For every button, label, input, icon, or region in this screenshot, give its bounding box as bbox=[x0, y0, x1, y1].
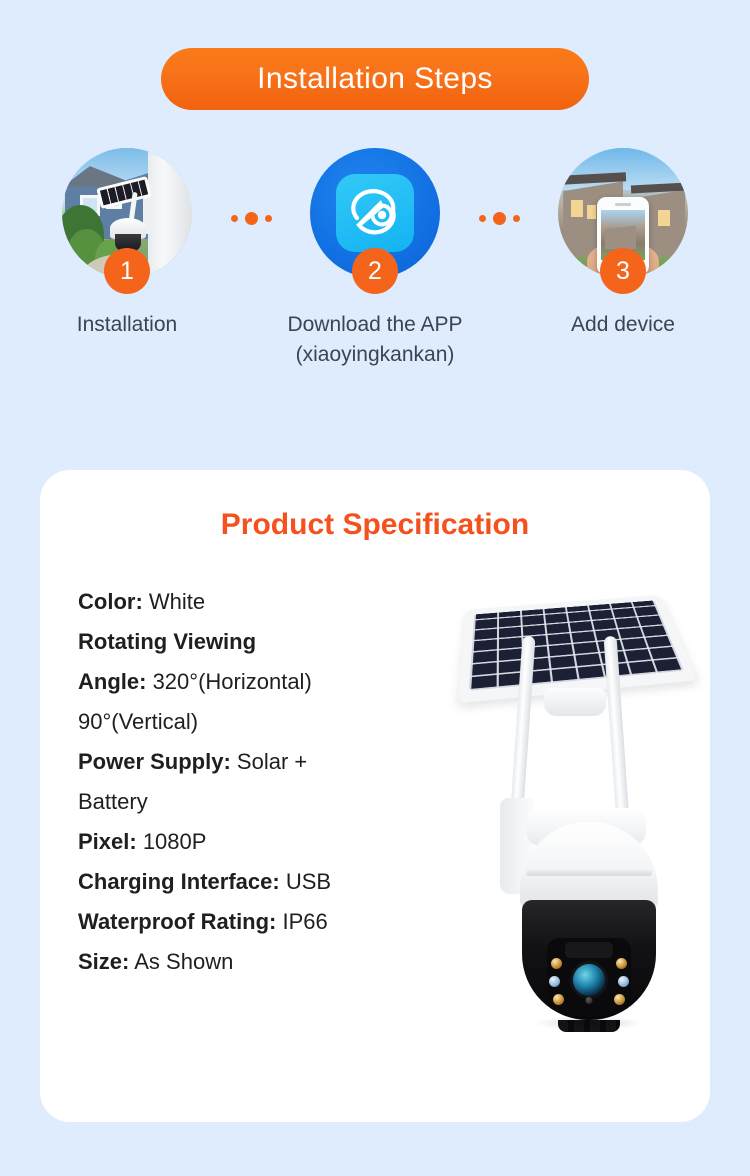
light-sensor-icon bbox=[586, 997, 593, 1004]
camera-lens-icon bbox=[573, 964, 605, 996]
led-warm-icon bbox=[553, 994, 564, 1005]
spec-value: Solar + bbox=[231, 749, 307, 774]
dot-small-icon bbox=[513, 215, 520, 222]
spec-label: Charging Interface: bbox=[78, 869, 280, 894]
lit-window bbox=[571, 200, 583, 217]
app-icon-tile bbox=[336, 174, 414, 252]
step-3-image-holder: 3 bbox=[558, 148, 688, 278]
led-cool-icon bbox=[618, 976, 629, 987]
step-1-installation[interactable]: 1 Installation bbox=[29, 148, 225, 340]
spec-label: Waterproof Rating: bbox=[78, 909, 276, 934]
dot-large-icon bbox=[493, 212, 506, 225]
product-photo bbox=[448, 570, 700, 1070]
camera-dome bbox=[522, 900, 656, 1020]
spec-line: Battery bbox=[78, 782, 428, 822]
spec-value: 90°(Vertical) bbox=[78, 709, 198, 734]
spec-value: White bbox=[143, 589, 205, 614]
spec-value: 1080P bbox=[137, 829, 207, 854]
wall-pillar bbox=[148, 148, 192, 278]
step-2-image-holder: 2 bbox=[310, 148, 440, 278]
lit-window bbox=[587, 205, 596, 219]
dot-small-icon bbox=[479, 215, 486, 222]
led-warm-icon bbox=[616, 958, 627, 969]
spec-label: Size: bbox=[78, 949, 129, 974]
spec-label: Power Supply: bbox=[78, 749, 231, 774]
spec-value: Battery bbox=[78, 789, 148, 814]
spec-label: Angle: bbox=[78, 669, 146, 694]
spec-value: 320°(Horizontal) bbox=[146, 669, 311, 694]
spec-line: Pixel: 1080P bbox=[78, 822, 428, 862]
spec-label: Color: bbox=[78, 589, 143, 614]
spec-line: Charging Interface: USB bbox=[78, 862, 428, 902]
step-2-number-badge: 2 bbox=[352, 248, 398, 294]
installation-steps-title: Installation Steps bbox=[161, 48, 589, 110]
dot-small-icon bbox=[231, 215, 238, 222]
step-1-number-badge: 1 bbox=[104, 248, 150, 294]
step-2-label-line1: Download the APP bbox=[287, 313, 462, 336]
header-banner: Installation Steps bbox=[0, 48, 750, 110]
product-specification-title: Product Specification bbox=[40, 508, 710, 542]
dot-small-icon bbox=[265, 215, 272, 222]
spec-value: As Shown bbox=[129, 949, 233, 974]
installation-steps-row: 1 Installation bbox=[0, 148, 750, 370]
panel-neck-joint bbox=[544, 688, 606, 716]
spec-label: Pixel: bbox=[78, 829, 137, 854]
dot-large-icon bbox=[245, 212, 258, 225]
spec-line: 90°(Vertical) bbox=[78, 702, 428, 742]
spec-line: Angle: 320°(Horizontal) bbox=[78, 662, 428, 702]
led-warm-icon bbox=[614, 994, 625, 1005]
spec-line: Size: As Shown bbox=[78, 942, 428, 982]
eye-logo-icon bbox=[347, 185, 403, 241]
housing-seam bbox=[526, 870, 652, 876]
spec-value: USB bbox=[280, 869, 331, 894]
led-cool-icon bbox=[549, 976, 560, 987]
product-shadow bbox=[534, 1016, 644, 1030]
step-3-label: Add device bbox=[571, 310, 675, 340]
led-warm-icon bbox=[551, 958, 562, 969]
spec-line: Color: White bbox=[78, 582, 428, 622]
specification-list: Color: White Rotating Viewing Angle: 320… bbox=[78, 582, 428, 982]
solar-cells bbox=[469, 600, 684, 690]
three-dots-separator-1 bbox=[225, 212, 277, 225]
lens-visor bbox=[565, 942, 613, 958]
step-1-label: Installation bbox=[77, 310, 177, 340]
step-3-add-device[interactable]: 3 Add device bbox=[525, 148, 721, 340]
phone-speaker bbox=[615, 203, 631, 206]
step-2-label: Download the APP (xiaoyingkankan) bbox=[287, 310, 462, 370]
three-dots-separator-2 bbox=[473, 212, 525, 225]
camera-lens-face bbox=[547, 938, 631, 1010]
spec-line: Rotating Viewing bbox=[78, 622, 428, 662]
spec-label: Rotating Viewing bbox=[78, 629, 256, 654]
step-1-image-holder: 1 bbox=[62, 148, 192, 278]
step-2-download-app[interactable]: 2 Download the APP (xiaoyingkankan) bbox=[277, 148, 473, 370]
spec-value: IP66 bbox=[276, 909, 327, 934]
lit-window bbox=[658, 210, 670, 226]
step-2-label-line2: (xiaoyingkankan) bbox=[296, 343, 455, 366]
product-specification-card: Product Specification Color: White Rotat… bbox=[40, 470, 710, 1122]
spec-line: Power Supply: Solar + bbox=[78, 742, 428, 782]
spec-line: Waterproof Rating: IP66 bbox=[78, 902, 428, 942]
step-3-number-badge: 3 bbox=[600, 248, 646, 294]
